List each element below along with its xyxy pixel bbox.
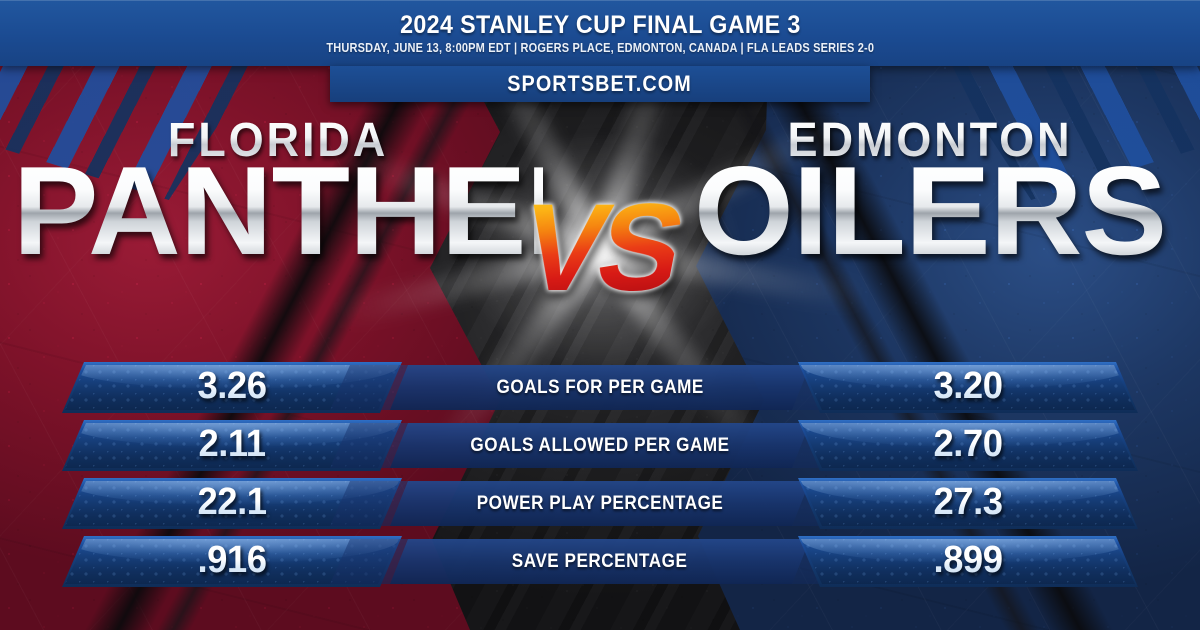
stat-value-chip-right: 2.70	[798, 420, 1138, 471]
stat-value-chip-right: .899	[798, 536, 1138, 587]
page-title: 2024 STANLEY CUP FINAL GAME 3	[400, 12, 801, 38]
stat-value-right: 2.70	[805, 420, 1131, 471]
stat-row: .916SAVE PERCENTAGE.899	[0, 534, 1200, 589]
team-name-right: EDMONTON OILERS	[670, 118, 1190, 264]
stat-value-right: .899	[805, 536, 1131, 587]
team-mascot-left: PANTHERS	[13, 158, 543, 264]
stat-value-right: 3.20	[805, 362, 1131, 413]
stat-row: 22.1POWER PLAY PERCENTAGE27.3	[0, 476, 1200, 531]
brand-bar: SPORTSBET.COM	[330, 66, 870, 102]
stat-label-panel: GOALS ALLOWED PER GAME	[390, 423, 810, 468]
stat-value-chip-right: 3.20	[798, 362, 1138, 413]
stat-label: GOALS FOR PER GAME	[496, 377, 703, 399]
stat-label-panel: POWER PLAY PERCENTAGE	[390, 481, 810, 526]
stat-row: 2.11GOALS ALLOWED PER GAME2.70	[0, 418, 1200, 473]
stat-label-panel: GOALS FOR PER GAME	[390, 365, 810, 410]
matchup-graphic: 2024 STANLEY CUP FINAL GAME 3 THURSDAY, …	[0, 0, 1200, 630]
stat-value-right: 27.3	[805, 478, 1131, 529]
stat-value-chip-right: 27.3	[798, 478, 1138, 529]
stats-comparison-table: 3.26GOALS FOR PER GAME3.202.11GOALS ALLO…	[0, 360, 1200, 592]
brand-name: SPORTSBET.COM	[508, 71, 693, 97]
game-details: THURSDAY, JUNE 13, 8:00PM EDT | ROGERS P…	[326, 41, 874, 55]
stat-label-panel: SAVE PERCENTAGE	[390, 539, 810, 584]
stat-label: SAVE PERCENTAGE	[512, 551, 688, 573]
stat-row: 3.26GOALS FOR PER GAME3.20	[0, 360, 1200, 415]
versus-badge: VS	[512, 186, 688, 310]
stat-label: POWER PLAY PERCENTAGE	[477, 493, 724, 515]
team-name-left: FLORIDA PANTHERS	[18, 118, 538, 264]
team-mascot-right: OILERS	[665, 158, 1195, 264]
stat-label: GOALS ALLOWED PER GAME	[470, 435, 729, 457]
header-bar: 2024 STANLEY CUP FINAL GAME 3 THURSDAY, …	[0, 0, 1200, 66]
